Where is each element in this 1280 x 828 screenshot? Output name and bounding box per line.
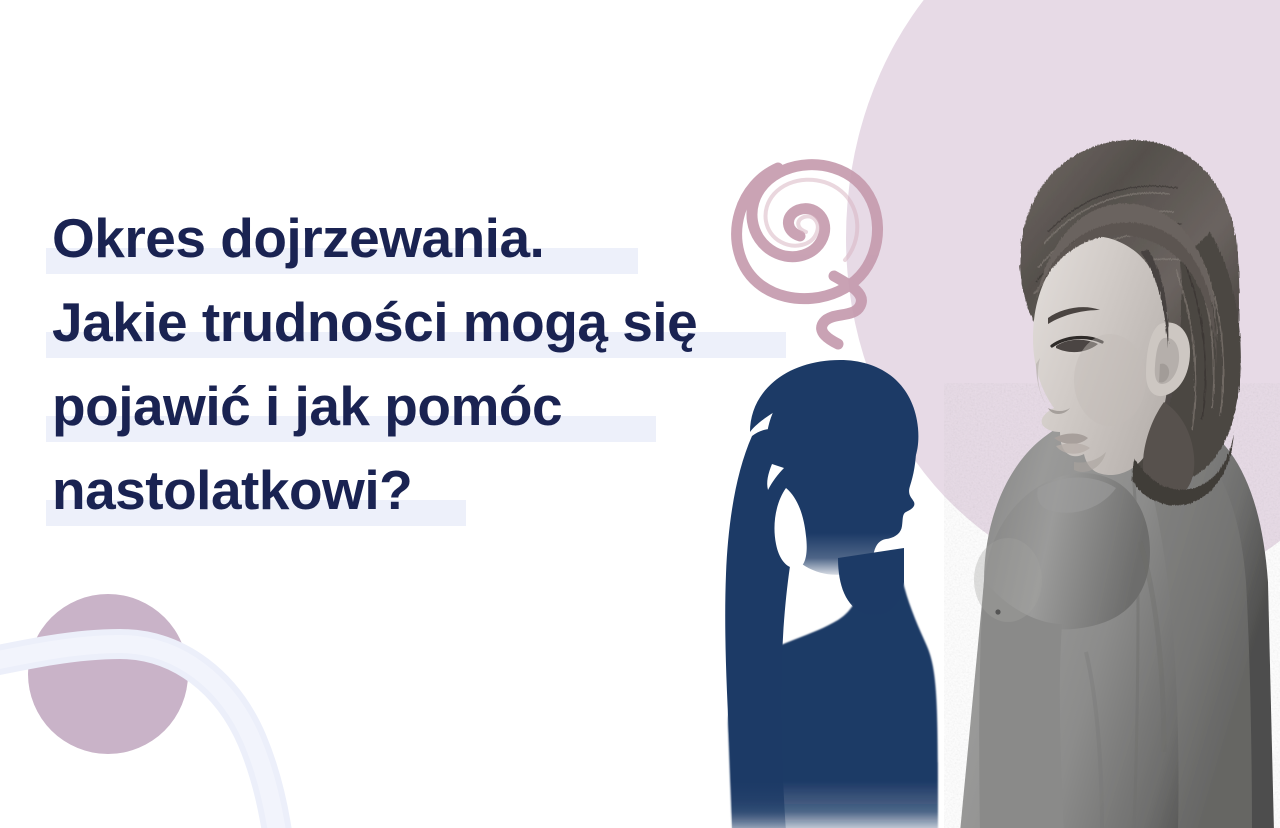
mauve-circle-shape	[28, 594, 188, 754]
poster-canvas: Okres dojrzewania. Jakie trudności mogą …	[0, 0, 1280, 828]
woman-photo-figure	[888, 112, 1280, 828]
headline-line-1-text: Okres dojrzewania.	[52, 207, 544, 269]
headline-line-1: Okres dojrzewania.	[52, 196, 812, 280]
headline-line-2-text: Jakie trudności mogą się	[52, 291, 697, 353]
lavender-arc-shape	[0, 588, 360, 828]
headline-line-3-text: pojawić i jak pomóc	[52, 375, 562, 437]
headline-line-4-text: nastolatkowi?	[52, 459, 412, 521]
